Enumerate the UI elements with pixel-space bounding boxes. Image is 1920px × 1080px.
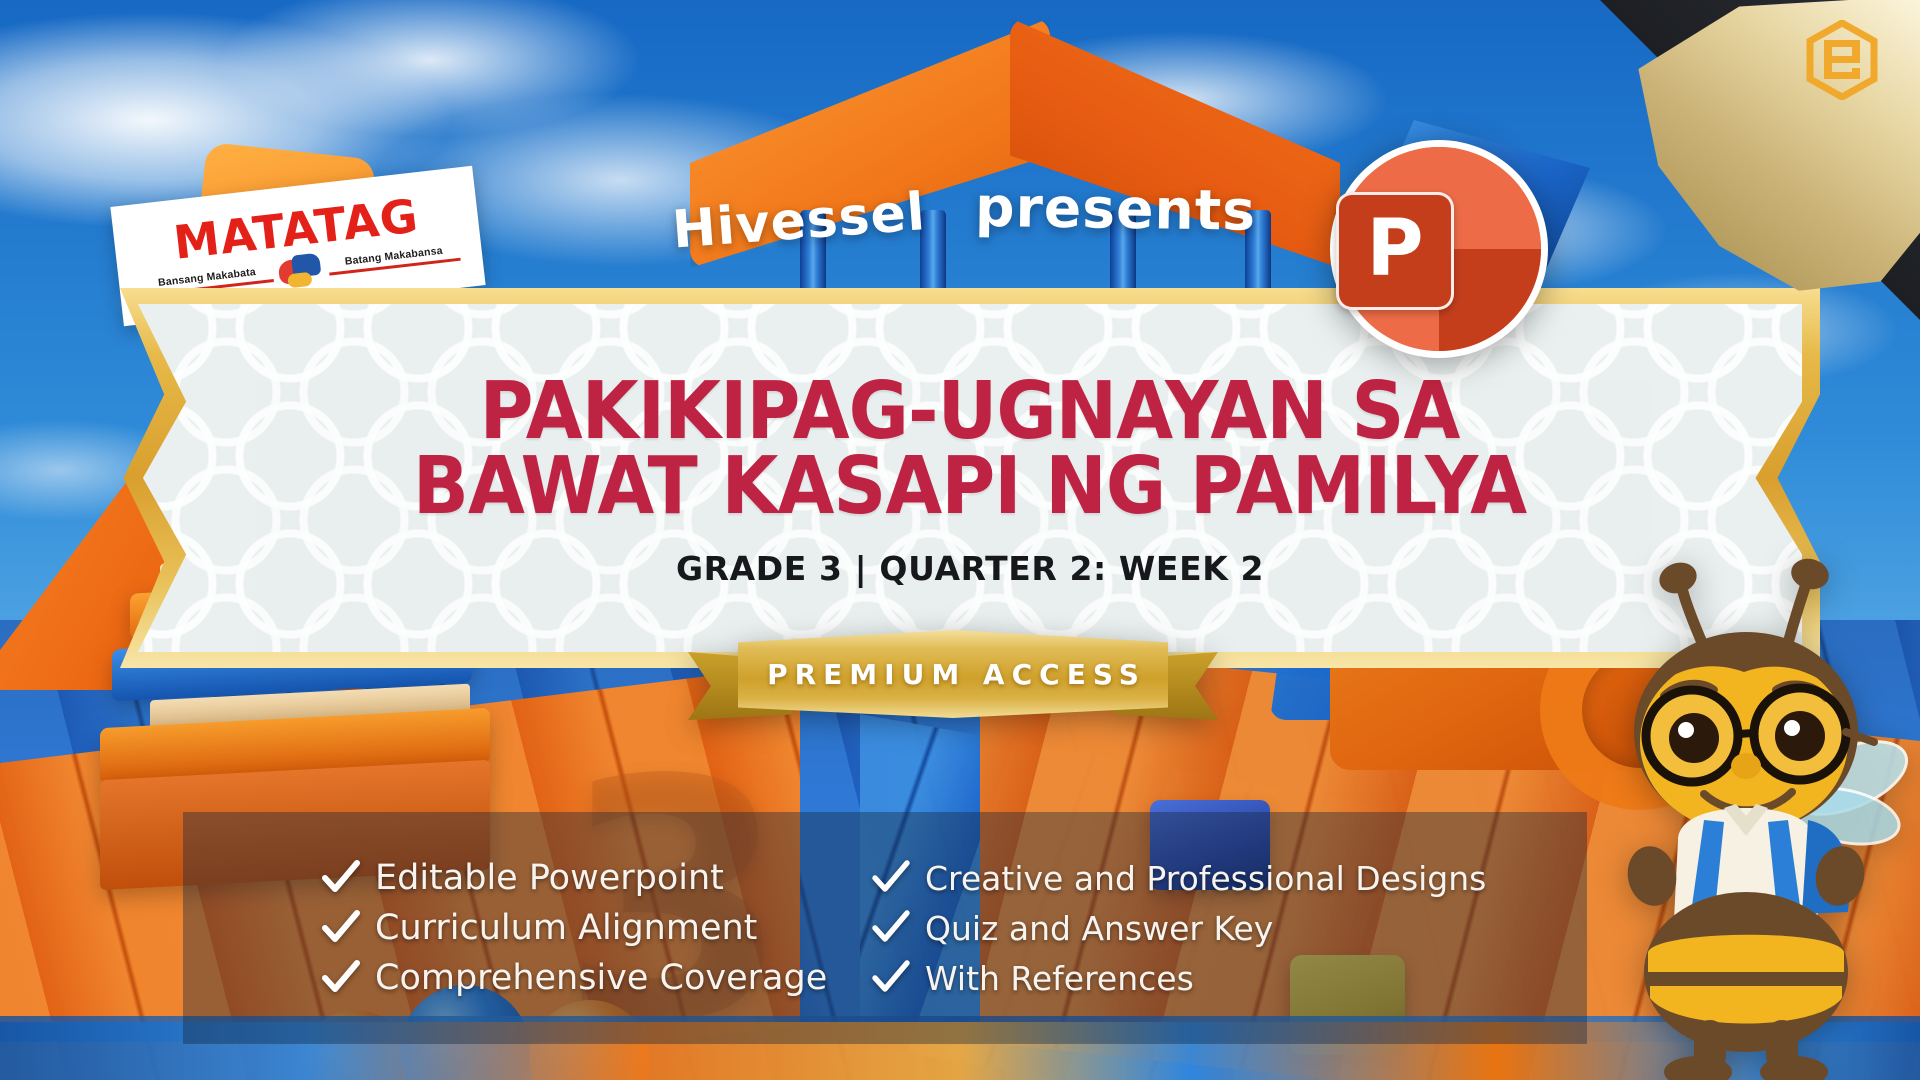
feature-label: Comprehensive Coverage — [375, 958, 827, 998]
title-banner: PAKIKIPAG-UGNAYAN SA BAWAT KASAPI NG PAM… — [120, 288, 1820, 668]
check-icon — [321, 958, 361, 998]
lesson-title: PAKIKIPAG-UGNAYAN SA BAWAT KASAPI NG PAM… — [413, 374, 1526, 523]
bee-mascot — [1586, 520, 1920, 1080]
presents-word-verb: presents — [974, 176, 1256, 244]
feature-item: Creative and Professional Designs — [871, 858, 1531, 898]
powerpoint-tile: P — [1336, 192, 1454, 310]
feature-label: Curriculum Alignment — [375, 908, 757, 948]
feature-label: Creative and Professional Designs — [925, 859, 1486, 898]
slide-canvas: 3 MATATAG Bansang Makabata Batang Makaba… — [0, 0, 1920, 1080]
lesson-subtitle: GRADE 3 | QUARTER 2: WEEK 2 — [676, 549, 1264, 588]
banner-content: PAKIKIPAG-UGNAYAN SA BAWAT KASAPI NG PAM… — [120, 288, 1820, 668]
features-column-left: Editable Powerpoint Curriculum Alignment… — [191, 858, 831, 998]
feature-item: Curriculum Alignment — [321, 908, 831, 948]
feature-item: Quiz and Answer Key — [871, 908, 1531, 948]
lesson-title-line-2: BAWAT KASAPI NG PAMILYA — [413, 449, 1526, 523]
microsoft-powerpoint-icon: P — [1330, 140, 1548, 358]
feature-item: Editable Powerpoint — [321, 858, 831, 898]
check-icon — [871, 958, 911, 998]
feature-label: With References — [925, 959, 1194, 998]
check-icon — [321, 858, 361, 898]
premium-access-ribbon: PREMIUM ACCESS — [692, 630, 1214, 722]
premium-access-label: PREMIUM ACCESS — [760, 658, 1146, 691]
check-icon — [871, 908, 911, 948]
features-column-right: Creative and Professional Designs Quiz a… — [831, 858, 1531, 998]
ribbon-band: PREMIUM ACCESS — [738, 630, 1168, 718]
powerpoint-letter: P — [1366, 210, 1423, 288]
feature-label: Quiz and Answer Key — [925, 909, 1273, 948]
lesson-title-line-1: PAKIKIPAG-UGNAYAN SA — [413, 374, 1526, 448]
feature-label: Editable Powerpoint — [375, 858, 724, 898]
check-icon — [871, 858, 911, 898]
hivessel-hex-logo-icon — [1806, 20, 1878, 100]
feature-item: With References — [871, 958, 1531, 998]
features-panel: Editable Powerpoint Curriculum Alignment… — [183, 812, 1587, 1044]
feature-item: Comprehensive Coverage — [321, 958, 831, 998]
check-icon — [321, 908, 361, 948]
